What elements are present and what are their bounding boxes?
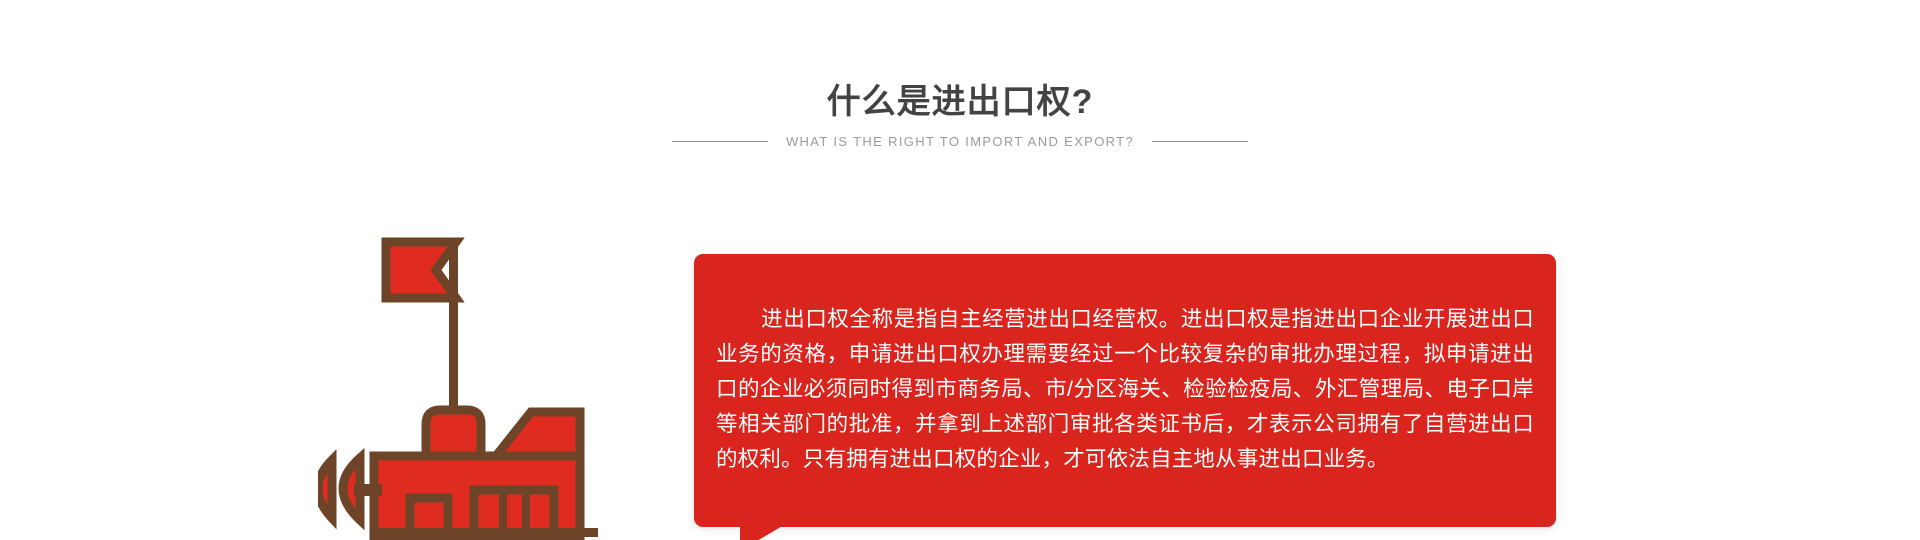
page-subtitle: WHAT IS THE RIGHT TO IMPORT AND EXPORT? [786,134,1134,149]
divider-line-right [1152,141,1248,142]
page-title: 什么是进出口权? [0,0,1920,123]
callout-text: 进出口权全称是指自主经营进出口经营权。进出口权是指进出口企业开展进出口业务的资格… [716,302,1534,477]
section-header: 什么是进出口权? WHAT IS THE RIGHT TO IMPORT AND… [0,0,1920,149]
port-building-icon [318,228,618,540]
callout-tail [740,525,784,540]
port-building-illustration [318,228,618,540]
page-section: 什么是进出口权? WHAT IS THE RIGHT TO IMPORT AND… [0,0,1920,540]
red-callout-box: 进出口权全称是指自主经营进出口经营权。进出口权是指进出口企业开展进出口业务的资格… [694,254,1556,527]
subtitle-row: WHAT IS THE RIGHT TO IMPORT AND EXPORT? [0,134,1920,149]
flag-pole [449,238,458,418]
divider-line-left [672,141,768,142]
